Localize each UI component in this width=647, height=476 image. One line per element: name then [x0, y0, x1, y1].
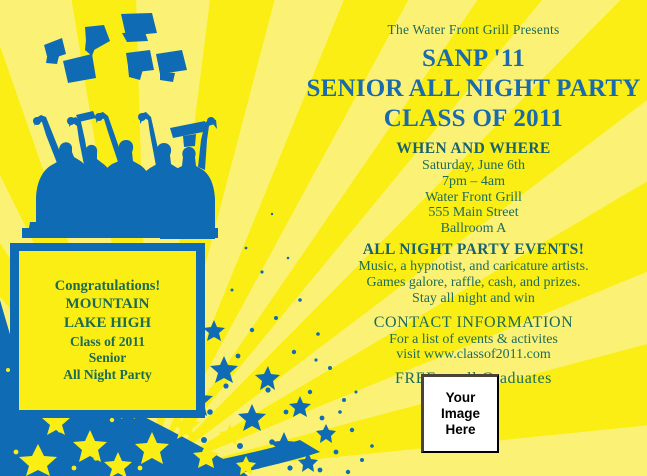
graduates-silhouette	[22, 111, 218, 239]
when-line-3: Water Front Grill	[300, 190, 647, 206]
congrats-line-3: LAKE HIGH	[64, 314, 151, 332]
events-line-1: Music, a hypnotist, and caricature artis…	[300, 259, 647, 275]
thrown-graduation-caps	[44, 13, 187, 83]
contact-heading: CONTACT INFORMATION	[300, 314, 647, 332]
image-placeholder[interactable]: Your Image Here	[421, 374, 499, 453]
when-and-where-heading: WHEN AND WHERE	[300, 140, 647, 158]
ticket-text-column: The Water Front Grill Presents SANP '11 …	[300, 0, 647, 388]
congrats-line-4: Class of 2011	[70, 334, 145, 350]
when-line-5: Ballroom A	[300, 221, 647, 237]
image-placeholder-line-3: Here	[445, 422, 475, 438]
congratulations-panel: Congratulations! MOUNTAIN LAKE HIGH Clas…	[10, 243, 205, 418]
contact-line-2: visit www.classof2011.com	[300, 347, 647, 363]
when-line-1: Saturday, June 6th	[300, 158, 647, 174]
contact-line-1: For a list of events & activites	[300, 332, 647, 348]
events-line-3: Stay all night and win	[300, 291, 647, 307]
when-line-2: 7pm – 4am	[300, 174, 647, 190]
event-ticket: The Water Front Grill Presents SANP '11 …	[0, 0, 647, 476]
image-placeholder-line-1: Your	[446, 390, 476, 406]
when-line-4: 555 Main Street	[300, 205, 647, 221]
events-heading: ALL NIGHT PARTY EVENTS!	[300, 241, 647, 259]
congrats-line-5: Senior	[89, 350, 127, 366]
presenter-line: The Water Front Grill Presents	[300, 22, 647, 38]
congratulations-panel-inner: Congratulations! MOUNTAIN LAKE HIGH Clas…	[19, 251, 196, 410]
event-title-line-3: CLASS OF 2011	[300, 105, 647, 133]
event-title-line-1: SANP '11	[300, 45, 647, 73]
congrats-line-1: Congratulations!	[55, 278, 161, 296]
congrats-line-2: MOUNTAIN	[66, 295, 150, 313]
event-title-line-2: SENIOR ALL NIGHT PARTY	[300, 75, 647, 103]
congrats-line-6: All Night Party	[63, 367, 152, 383]
events-line-2: Games galore, raffle, cash, and prizes.	[300, 275, 647, 291]
image-placeholder-line-2: Image	[441, 406, 480, 422]
